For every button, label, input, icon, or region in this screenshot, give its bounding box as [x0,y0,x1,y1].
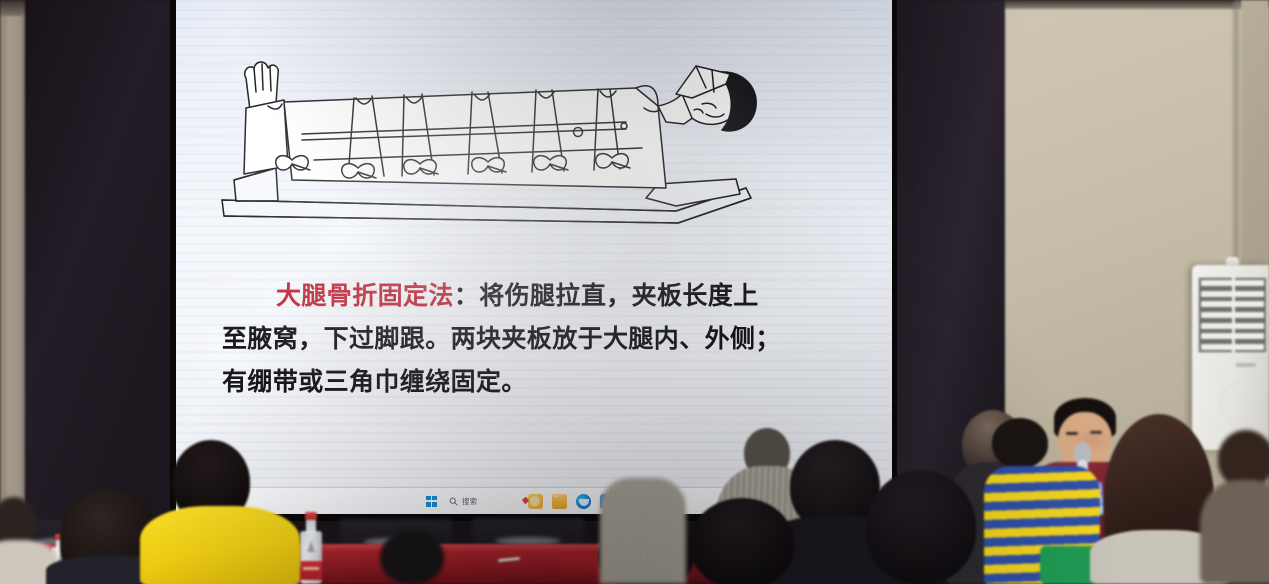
slide-line-2: 至腋窝，下过脚跟。两块夹板放于大腿内、外侧； [214,318,874,361]
air-conditioner-unit [1192,265,1269,450]
water-bottle [300,512,322,584]
slide-line-1-rest: 将伤腿拉直，夹板长度上 [479,283,758,310]
widgets-weather-icon[interactable] [528,494,543,509]
left-wall-strip [0,0,27,520]
slide-line-3: 有绷带或三角巾缠绕固定。 [214,361,874,404]
start-button-icon[interactable] [426,496,437,507]
taskbar-center-group: 搜索 [426,488,484,514]
ac-grille-divider [1232,277,1235,353]
search-icon [449,497,458,506]
slide-body-text: 大腿骨折固定法：将伤腿拉直，夹板长度上 至腋窝，下过脚跟。两块夹板放于大腿内、外… [214,275,874,404]
ac-brand-logo [1236,363,1256,367]
search-input[interactable]: 搜索 [444,494,484,509]
slide-colon: ： [454,283,479,310]
file-explorer-icon[interactable] [552,494,567,509]
slide-line-1: 大腿骨折固定法：将伤腿拉直，夹板长度上 [214,275,874,318]
edge-browser-icon[interactable] [576,494,591,509]
lecture-hall-photo: · · · . . · · · [0,0,1269,584]
ghost-mark-topleft: . . [236,18,256,30]
first-aid-illustration [206,48,776,238]
ghost-mark-top: · · · [631,14,668,26]
left-dark-wall [25,0,177,540]
search-placeholder-text: 搜索 [462,496,478,507]
slide-heading: 大腿骨折固定法 [276,283,454,310]
ac-dial [1220,383,1258,421]
